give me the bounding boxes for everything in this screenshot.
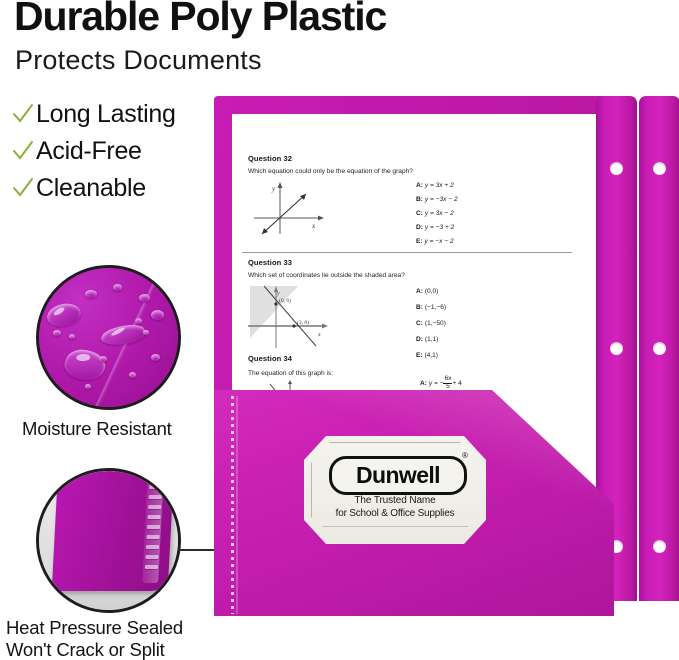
check-icon [10,99,36,129]
option-letter: B: [416,196,423,203]
option-row: E: y = −x − 2 [416,238,454,245]
option-expr: (1,1) [425,336,439,343]
option-letter: B: [416,304,423,311]
option-letter: E: [416,352,423,359]
option-expr: (4,1) [424,352,438,359]
option-expr: y = −3 + 2 [425,224,455,231]
punch-hole [653,540,666,553]
seal-mark [147,525,160,529]
question-number: Question 32 [248,154,292,163]
seal-mark [146,545,159,549]
option-letter: C: [416,210,423,217]
droplet [151,354,160,361]
droplet [53,330,61,336]
seal-mark [149,495,162,499]
inset-caption-heat: Heat Pressure Sealed Won't Crack or Spli… [6,617,256,660]
option-letter: A: [416,182,423,189]
option-letter: D: [416,224,423,231]
seal-mark [148,505,161,509]
droplet [69,334,75,339]
option-row: D: y = −3 + 2 [416,224,454,231]
question-number: Question 33 [248,258,292,267]
check-icon [10,136,36,166]
feature-label: Cleanable [36,174,146,203]
option-expr: (0,0) [425,288,439,295]
question-number: Question 34 [248,354,292,363]
list-item: Cleanable [10,170,220,206]
seal-mark [150,475,163,479]
seal-mark [149,485,162,489]
svg-text:x: x [317,332,321,338]
check-icon [10,173,36,203]
list-item: Acid-Free [10,133,220,169]
option-letter: E: [416,238,423,245]
option-expr: y = 3x + 2 [425,182,454,189]
droplet [135,318,142,324]
folder-front-pocket: Dunwell ® The Trusted Name for School & … [214,378,614,616]
droplet [143,330,149,335]
punch-hole [610,162,623,175]
seal-mark [145,555,158,559]
option-expr: y = −3x − 2 [425,196,458,203]
feature-list: Long Lasting Acid-Free Cleanable [10,96,220,207]
droplet [139,294,150,302]
droplet [151,310,164,320]
page-title: Durable Poly Plastic [14,0,474,37]
graph-point-label: (0, 6) [279,297,291,304]
option-row: A: y = 3x + 2 [416,182,454,189]
option-letter: A: [416,288,423,295]
folder-spine-strip-right [639,96,679,601]
caption-line-2: Won't Crack or Split [6,639,256,660]
feature-label: Long Lasting [36,100,176,129]
question-32-graph: y x [246,178,332,240]
punch-hole [610,342,623,355]
punch-hole [653,162,666,175]
option-row: C: y = 3x − 2 [416,210,454,217]
droplet [113,284,122,291]
svg-text:y: y [271,185,276,193]
question-33-graph: y x (0, 6) (3, 0) [246,282,338,354]
option-expr: (1,−50) [425,320,446,327]
brand-tagline-line-1: The Trusted Name [311,495,479,506]
option-expr: y = 3x − 2 [425,210,454,217]
folder-front-pocket-wrap: Dunwell ® The Trusted Name for School & … [214,378,614,616]
option-row: D: (1,1) [416,336,438,343]
feature-label: Acid-Free [36,137,142,166]
label-divider [322,526,468,527]
water-droplets-icon [36,265,181,410]
question-prompt: Which equation could only be the equatio… [248,168,413,175]
option-row: A: (0,0) [416,288,438,295]
svg-text:y: y [276,291,280,297]
option-row: E: (4,1) [416,352,438,359]
brand-logo-box: Dunwell [329,456,467,495]
heat-sealed-edge-icon [36,468,181,613]
question-prompt: Which set of coordinates lie outside the… [248,272,405,279]
droplet [85,290,97,298]
seal-mark [146,535,159,539]
seal-mark [147,515,160,519]
svg-text:x: x [311,222,316,230]
brand-name: Dunwell [356,464,440,487]
droplet [85,384,91,389]
option-expr: y = −x − 2 [424,238,453,245]
registered-trademark-icon: ® [462,451,468,460]
seal-mark [145,565,158,569]
option-expr: (−1,−6) [425,304,446,311]
punch-hole [653,342,666,355]
page-subtitle: Protects Documents [15,47,475,74]
heat-seal-line [236,396,238,614]
option-row: C: (1,−50) [416,320,446,327]
option-letter: C: [416,320,423,327]
option-row: B: (−1,−6) [416,304,446,311]
product-infographic: Durable Poly Plastic Protects Documents … [0,0,679,660]
brand-tagline-line-2: for School & Office Supplies [311,508,479,519]
caption-line-1: Heat Pressure Sealed [6,617,256,639]
droplet [129,372,136,378]
option-letter: D: [416,336,423,343]
question-prompt: The equation of this graph is: [248,370,333,377]
sealed-pocket-edge [52,468,175,591]
droplet [99,356,107,362]
heat-seal-perforation [231,396,234,614]
option-row: B: y = −3x − 2 [416,196,458,203]
list-item: Long Lasting [10,96,220,132]
graph-point-label: (3, 0) [297,319,309,326]
section-divider [242,252,572,253]
